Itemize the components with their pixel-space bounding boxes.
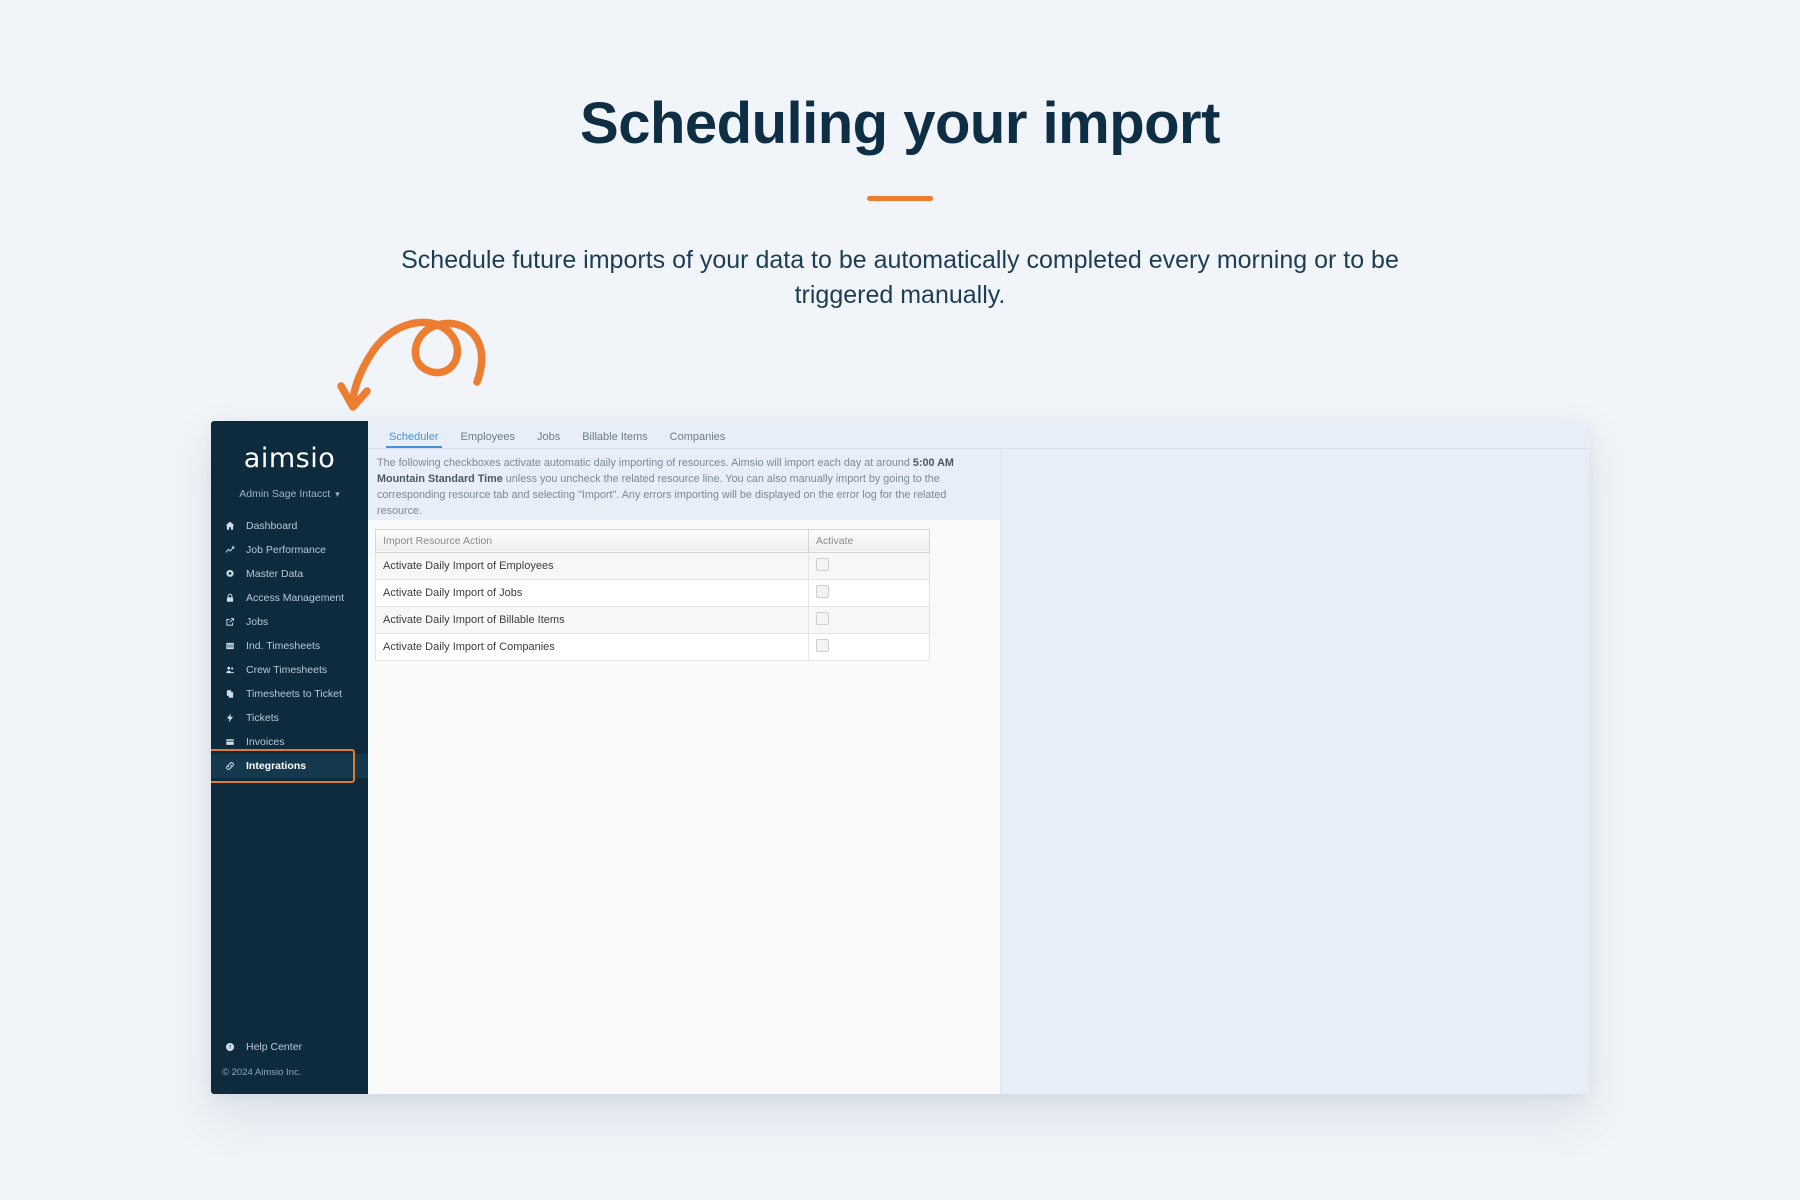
main-body: The following checkboxes activate automa…	[368, 449, 1589, 1094]
sidebar: aimsio Admin Sage Intacct ▾ Dashboard Jo…	[211, 421, 368, 1094]
sidebar-item-label: Integrations	[246, 760, 306, 772]
sidebar-item-integrations-wrapper: Integrations	[211, 754, 368, 778]
table-body: Activate Daily Import of Employees Activ…	[376, 552, 930, 660]
chevron-down-icon: ▾	[335, 489, 340, 499]
sidebar-item-timesheets-to-ticket[interactable]: Timesheets to Ticket	[211, 682, 368, 706]
sidebar-item-job-performance[interactable]: Job Performance	[211, 538, 368, 562]
sidebar-item-invoices[interactable]: Invoices	[211, 730, 368, 754]
sidebar-item-ind-timesheets[interactable]: Ind. Timesheets	[211, 634, 368, 658]
row-action-label: Activate Daily Import of Jobs	[376, 579, 809, 606]
logo-text: aimsio	[230, 445, 350, 472]
gear-icon	[222, 569, 238, 579]
scheduler-panel: The following checkboxes activate automa…	[368, 449, 1001, 1094]
row-action-label: Activate Daily Import of Companies	[376, 633, 809, 660]
invoice-icon	[222, 737, 238, 747]
row-action-label: Activate Daily Import of Billable Items	[376, 606, 809, 633]
tab-companies[interactable]: Companies	[659, 431, 737, 448]
tab-bar: Scheduler Employees Jobs Billable Items …	[368, 421, 1589, 449]
page-subtitle: Schedule future imports of your data to …	[350, 243, 1450, 314]
sidebar-item-label: Dashboard	[246, 520, 297, 532]
table-row: Activate Daily Import of Billable Items	[376, 606, 930, 633]
row-activate-cell[interactable]	[809, 606, 930, 633]
description-part-1: The following checkboxes activate automa…	[377, 457, 913, 469]
sidebar-item-access-management[interactable]: Access Management	[211, 586, 368, 610]
sidebar-item-label: Master Data	[246, 568, 303, 580]
sidebar-item-label: Access Management	[246, 592, 344, 604]
annotation-arrow	[325, 315, 555, 425]
lock-icon	[222, 593, 238, 603]
org-selector[interactable]: Admin Sage Intacct ▾	[211, 488, 368, 500]
main-content: Scheduler Employees Jobs Billable Items …	[368, 421, 1589, 1094]
table-header-row: Import Resource Action Activate	[376, 529, 930, 552]
ticket-icon	[222, 713, 238, 723]
activate-checkbox[interactable]	[816, 639, 829, 652]
app-window-screenshot: aimsio Admin Sage Intacct ▾ Dashboard Jo…	[211, 421, 1589, 1094]
row-activate-cell[interactable]	[809, 579, 930, 606]
column-header-action: Import Resource Action	[376, 529, 809, 552]
sidebar-item-crew-timesheets[interactable]: Crew Timesheets	[211, 658, 368, 682]
external-link-icon	[222, 617, 238, 627]
row-activate-cell[interactable]	[809, 633, 930, 660]
sidebar-nav: Dashboard Job Performance Master Data Ac…	[211, 514, 368, 778]
sidebar-item-label: Crew Timesheets	[246, 664, 327, 676]
table-row: Activate Daily Import of Jobs	[376, 579, 930, 606]
home-icon	[222, 521, 238, 531]
hero-section: Scheduling your import Schedule future i…	[0, 0, 1800, 314]
page-title: Scheduling your import	[0, 92, 1800, 156]
tab-scheduler[interactable]: Scheduler	[378, 431, 450, 448]
table-row: Activate Daily Import of Companies	[376, 633, 930, 660]
scheduler-description: The following checkboxes activate automa…	[368, 449, 1000, 520]
column-header-activate: Activate	[809, 529, 930, 552]
sidebar-item-tickets[interactable]: Tickets	[211, 706, 368, 730]
table-row: Activate Daily Import of Employees	[376, 552, 930, 579]
sidebar-item-jobs[interactable]: Jobs	[211, 610, 368, 634]
sidebar-item-dashboard[interactable]: Dashboard	[211, 514, 368, 538]
sidebar-item-integrations[interactable]: Integrations	[211, 754, 368, 778]
help-center-link[interactable]: ? Help Center	[222, 1041, 368, 1053]
copyright-text: © 2024 Aimsio Inc.	[222, 1067, 368, 1078]
table-icon	[222, 641, 238, 651]
people-icon	[222, 665, 238, 675]
curved-arrow-icon	[325, 315, 555, 425]
sidebar-item-label: Tickets	[246, 712, 279, 724]
sidebar-item-label: Invoices	[246, 736, 285, 748]
sidebar-spacer	[211, 778, 368, 1041]
title-underline-accent	[867, 196, 933, 201]
question-circle-icon: ?	[222, 1042, 238, 1052]
row-action-label: Activate Daily Import of Employees	[376, 552, 809, 579]
link-icon	[222, 761, 238, 771]
activate-checkbox[interactable]	[816, 585, 829, 598]
sidebar-footer: ? Help Center © 2024 Aimsio Inc.	[211, 1041, 368, 1094]
sidebar-item-master-data[interactable]: Master Data	[211, 562, 368, 586]
tab-billable-items[interactable]: Billable Items	[571, 431, 658, 448]
org-selector-label: Admin Sage Intacct	[239, 488, 330, 500]
row-activate-cell[interactable]	[809, 552, 930, 579]
sidebar-item-label: Timesheets to Ticket	[246, 688, 342, 700]
right-empty-pane	[1001, 449, 1589, 1094]
activate-checkbox[interactable]	[816, 612, 829, 625]
chart-line-icon	[222, 545, 238, 555]
sidebar-item-label: Job Performance	[246, 544, 326, 556]
sidebar-item-label: Jobs	[246, 616, 268, 628]
table-head: Import Resource Action Activate	[376, 529, 930, 552]
tab-employees[interactable]: Employees	[450, 431, 526, 448]
documents-icon	[222, 689, 238, 699]
tab-jobs[interactable]: Jobs	[526, 431, 571, 448]
app-logo: aimsio	[230, 445, 350, 472]
activate-checkbox[interactable]	[816, 558, 829, 571]
help-center-label: Help Center	[246, 1041, 302, 1053]
import-resource-table: Import Resource Action Activate Activate…	[375, 529, 930, 661]
sidebar-item-label: Ind. Timesheets	[246, 640, 320, 652]
svg-text:?: ?	[229, 1045, 232, 1051]
